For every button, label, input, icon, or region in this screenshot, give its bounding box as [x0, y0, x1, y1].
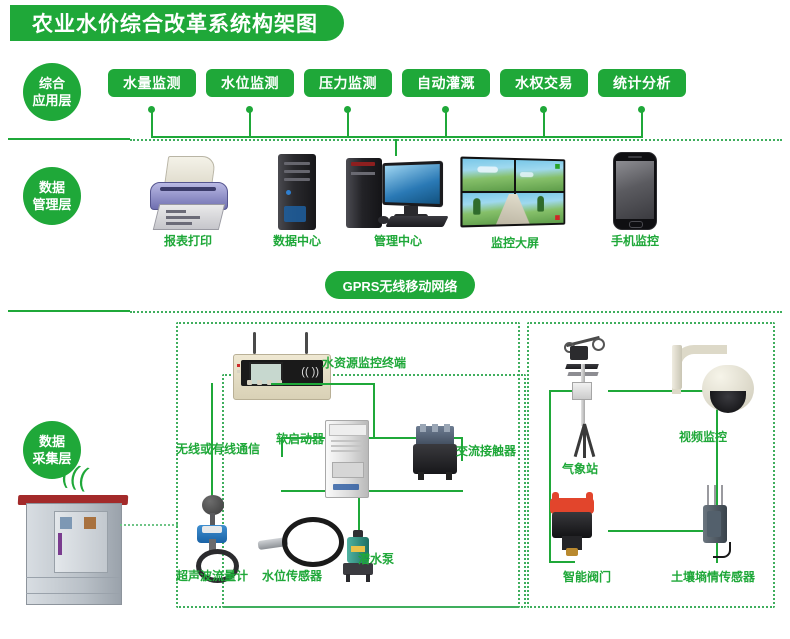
device-water-level-sensor	[258, 515, 338, 563]
device-smart-valve	[544, 498, 600, 558]
video-wall-icon	[460, 157, 565, 228]
app-button-pressure[interactable]: 压力监测	[304, 69, 392, 97]
label-wireless-or-wired-communication: 无线或有线通信	[176, 440, 260, 457]
app-button-water-volume[interactable]: 水量监测	[108, 69, 196, 97]
app-button-water-volume-label: 水量监测	[123, 73, 181, 93]
ultrasonic-flowmeter-icon	[184, 495, 240, 575]
divider-dotted-1	[130, 139, 782, 141]
app-button-water-level-label: 水位监测	[221, 73, 279, 93]
layer-badge-management-line2: 管理层	[32, 196, 71, 213]
label-soil-moisture-sensor: 土壤墒情传感器	[671, 568, 755, 585]
connector-line-4	[445, 110, 447, 138]
device-report-printer: 报表打印	[129, 156, 247, 249]
diagram-canvas: 农业水价综合改革系统构架图 综合 应用层 数据 管理层 数据 采集层 水量监测 …	[0, 0, 790, 639]
device-management-center-label: 管理中心	[342, 232, 454, 249]
label-ac-contactor: 交流接触器	[456, 442, 516, 459]
server-tower-icon	[270, 154, 324, 230]
device-soil-moisture-sensor	[695, 485, 735, 559]
printer-icon	[146, 156, 230, 230]
connector-line-2	[249, 110, 251, 138]
connector-bus-application	[151, 136, 643, 138]
wireless-link-dotted	[120, 524, 178, 526]
layer-badge-management-line1: 数据	[39, 179, 65, 196]
desktop-computer-icon	[346, 154, 450, 230]
device-rtu-terminal: (( ))	[233, 350, 329, 412]
app-button-water-rights[interactable]: 水权交易	[500, 69, 588, 97]
label-weather-station: 气象站	[562, 460, 598, 477]
device-report-printer-label: 报表打印	[129, 232, 247, 249]
mobile-phone-icon	[613, 152, 657, 230]
soft-starter-icon	[325, 420, 369, 498]
device-ultrasonic-flowmeter	[184, 495, 240, 575]
rtu-terminal-icon: (( ))	[233, 350, 329, 412]
gprs-network-label: GPRS无线移动网络	[343, 276, 458, 295]
connector-line-6	[641, 110, 643, 138]
smart-valve-icon	[544, 498, 600, 558]
wire-rtu-down	[373, 383, 375, 438]
device-management-center: 管理中心	[342, 154, 454, 249]
ac-contactor-icon	[410, 424, 460, 476]
device-ptz-camera	[672, 345, 758, 425]
connector-line-5	[543, 110, 545, 138]
water-level-sensor-icon	[258, 515, 338, 563]
device-data-center: 数据中心	[242, 154, 352, 249]
wire-rtu-across	[271, 383, 375, 385]
wire-starter-bottom	[281, 490, 463, 492]
app-button-irrigation-label: 自动灌溉	[417, 73, 475, 93]
layer-badge-application-line1: 综合	[39, 75, 65, 92]
device-data-center-label: 数据中心	[242, 232, 352, 249]
device-mobile-monitor: 手机监控	[580, 152, 690, 249]
wire-right-bottom-left-stub	[549, 561, 575, 563]
weather-station-icon	[548, 338, 618, 458]
layer-badge-management: 数据 管理层	[23, 167, 81, 225]
app-button-statistics-label: 统计分析	[613, 73, 671, 93]
layer-badge-acquisition-line1: 数据	[39, 433, 65, 450]
app-button-water-level[interactable]: 水位监测	[206, 69, 294, 97]
app-button-pressure-label: 压力监测	[319, 73, 377, 93]
layer-badge-application: 综合 应用层	[23, 63, 81, 121]
connector-line-1	[151, 110, 153, 138]
layer-badge-application-line2: 应用层	[32, 92, 71, 109]
device-ac-contactor	[410, 424, 460, 476]
label-video-surveillance: 视频监控	[679, 428, 727, 445]
app-button-statistics[interactable]: 统计分析	[598, 69, 686, 97]
device-video-wall: 监控大屏	[455, 158, 575, 251]
gprs-network-pill: GPRS无线移动网络	[325, 271, 475, 299]
device-mobile-monitor-label: 手机监控	[580, 232, 690, 249]
app-button-water-rights-label: 水权交易	[515, 73, 573, 93]
ptz-camera-icon	[672, 345, 758, 425]
label-water-level-sensor: 水位传感器	[262, 567, 322, 584]
device-control-cabinet	[18, 485, 128, 603]
label-submersible-pump: 潜水泵	[358, 550, 394, 567]
device-weather-station	[548, 338, 618, 458]
device-soft-starter	[325, 420, 369, 498]
label-water-resource-terminal: 水资源监控终端	[322, 354, 406, 371]
divider-solid-1	[8, 138, 130, 140]
page-title: 农业水价综合改革系统构架图	[32, 8, 318, 38]
wifi-signal-icon: (((	[60, 460, 91, 491]
divider-dotted-2	[130, 311, 782, 313]
label-ultrasonic-flowmeter: 超声波流量计	[176, 567, 248, 584]
connector-line-3	[347, 110, 349, 138]
soil-moisture-sensor-icon	[695, 485, 735, 559]
app-button-irrigation[interactable]: 自动灌溉	[402, 69, 490, 97]
page-title-banner: 农业水价综合改革系统构架图	[10, 5, 344, 41]
label-smart-valve: 智能阀门	[563, 568, 611, 585]
device-video-wall-label: 监控大屏	[455, 234, 575, 251]
control-cabinet-icon	[18, 485, 128, 603]
divider-solid-2	[8, 310, 130, 312]
label-soft-starter: 软启动器	[276, 430, 324, 447]
